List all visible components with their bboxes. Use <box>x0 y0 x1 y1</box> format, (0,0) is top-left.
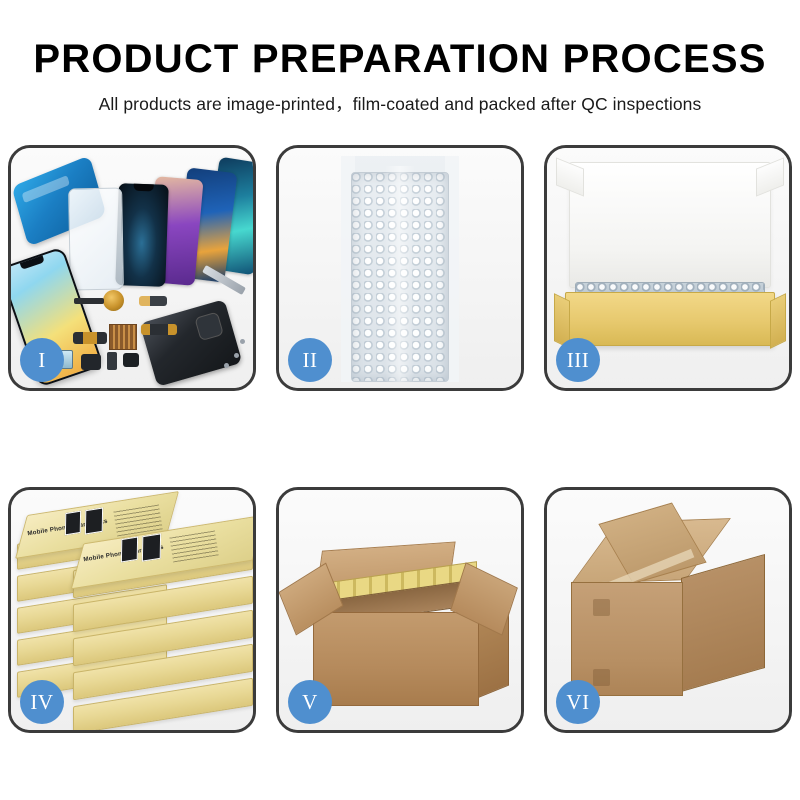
side-button-part-icon <box>107 352 117 370</box>
earpiece-bar-part-icon <box>74 298 104 304</box>
step-badge-2: II <box>288 338 332 382</box>
box-artwork-thumb <box>65 511 81 536</box>
step-badge-3: III <box>556 338 600 382</box>
screw-icon <box>240 339 245 344</box>
step-badge-5: V <box>288 680 332 724</box>
process-step-panel-1[interactable]: I <box>8 145 256 391</box>
camera-part-icon <box>123 353 139 367</box>
bubble-wrap-pouch <box>341 156 459 382</box>
page-title: PRODUCT PREPARATION PROCESS <box>0 0 800 80</box>
flex-cable-b-icon <box>141 324 177 335</box>
sealed-carton-side-face <box>681 554 765 692</box>
page-subtitle: All products are image-printed，film-coat… <box>0 80 800 116</box>
mailer-box-lid <box>569 162 771 288</box>
step-badge-1: I <box>20 338 64 382</box>
screw-icon <box>224 363 229 368</box>
process-step-panel-4[interactable]: Mobile Phone Spare Parts Mobile Phone Sp… <box>8 487 256 733</box>
copper-coil-part-icon <box>103 290 124 311</box>
phone-screen-fan <box>69 158 256 283</box>
process-step-panel-3[interactable]: III <box>544 145 792 391</box>
process-step-panel-5[interactable]: V <box>276 487 524 733</box>
process-step-panel-2[interactable]: II <box>276 145 524 391</box>
carton-handle-tab <box>593 599 610 616</box>
process-step-grid: I II III <box>8 145 792 730</box>
process-step-panel-6[interactable]: VI <box>544 487 792 733</box>
box-artwork-thumb <box>121 536 138 562</box>
speaker-part-icon <box>81 354 101 370</box>
carton-front-face <box>313 612 479 706</box>
box-artwork-thumb <box>85 507 103 534</box>
product-preparation-process-page: PRODUCT PREPARATION PROCESS All products… <box>0 0 800 800</box>
carton-handle-tab <box>593 669 610 686</box>
header: PRODUCT PREPARATION PROCESS All products… <box>0 0 800 116</box>
phone-back-housing <box>140 299 243 387</box>
box-artwork-thumb <box>142 533 161 561</box>
plastic-sheen <box>385 166 415 382</box>
screw-icon <box>234 353 239 358</box>
screen-glass-panel <box>68 188 124 291</box>
flex-cable-a-icon <box>73 332 107 344</box>
flex-cable-c-icon <box>139 296 167 306</box>
step-badge-4: IV <box>20 680 64 724</box>
sealed-carton-front-face <box>571 582 683 696</box>
step-badge-6: VI <box>556 680 600 724</box>
chip-grid-part-icon <box>109 324 137 350</box>
mailer-box-tray <box>565 292 775 346</box>
